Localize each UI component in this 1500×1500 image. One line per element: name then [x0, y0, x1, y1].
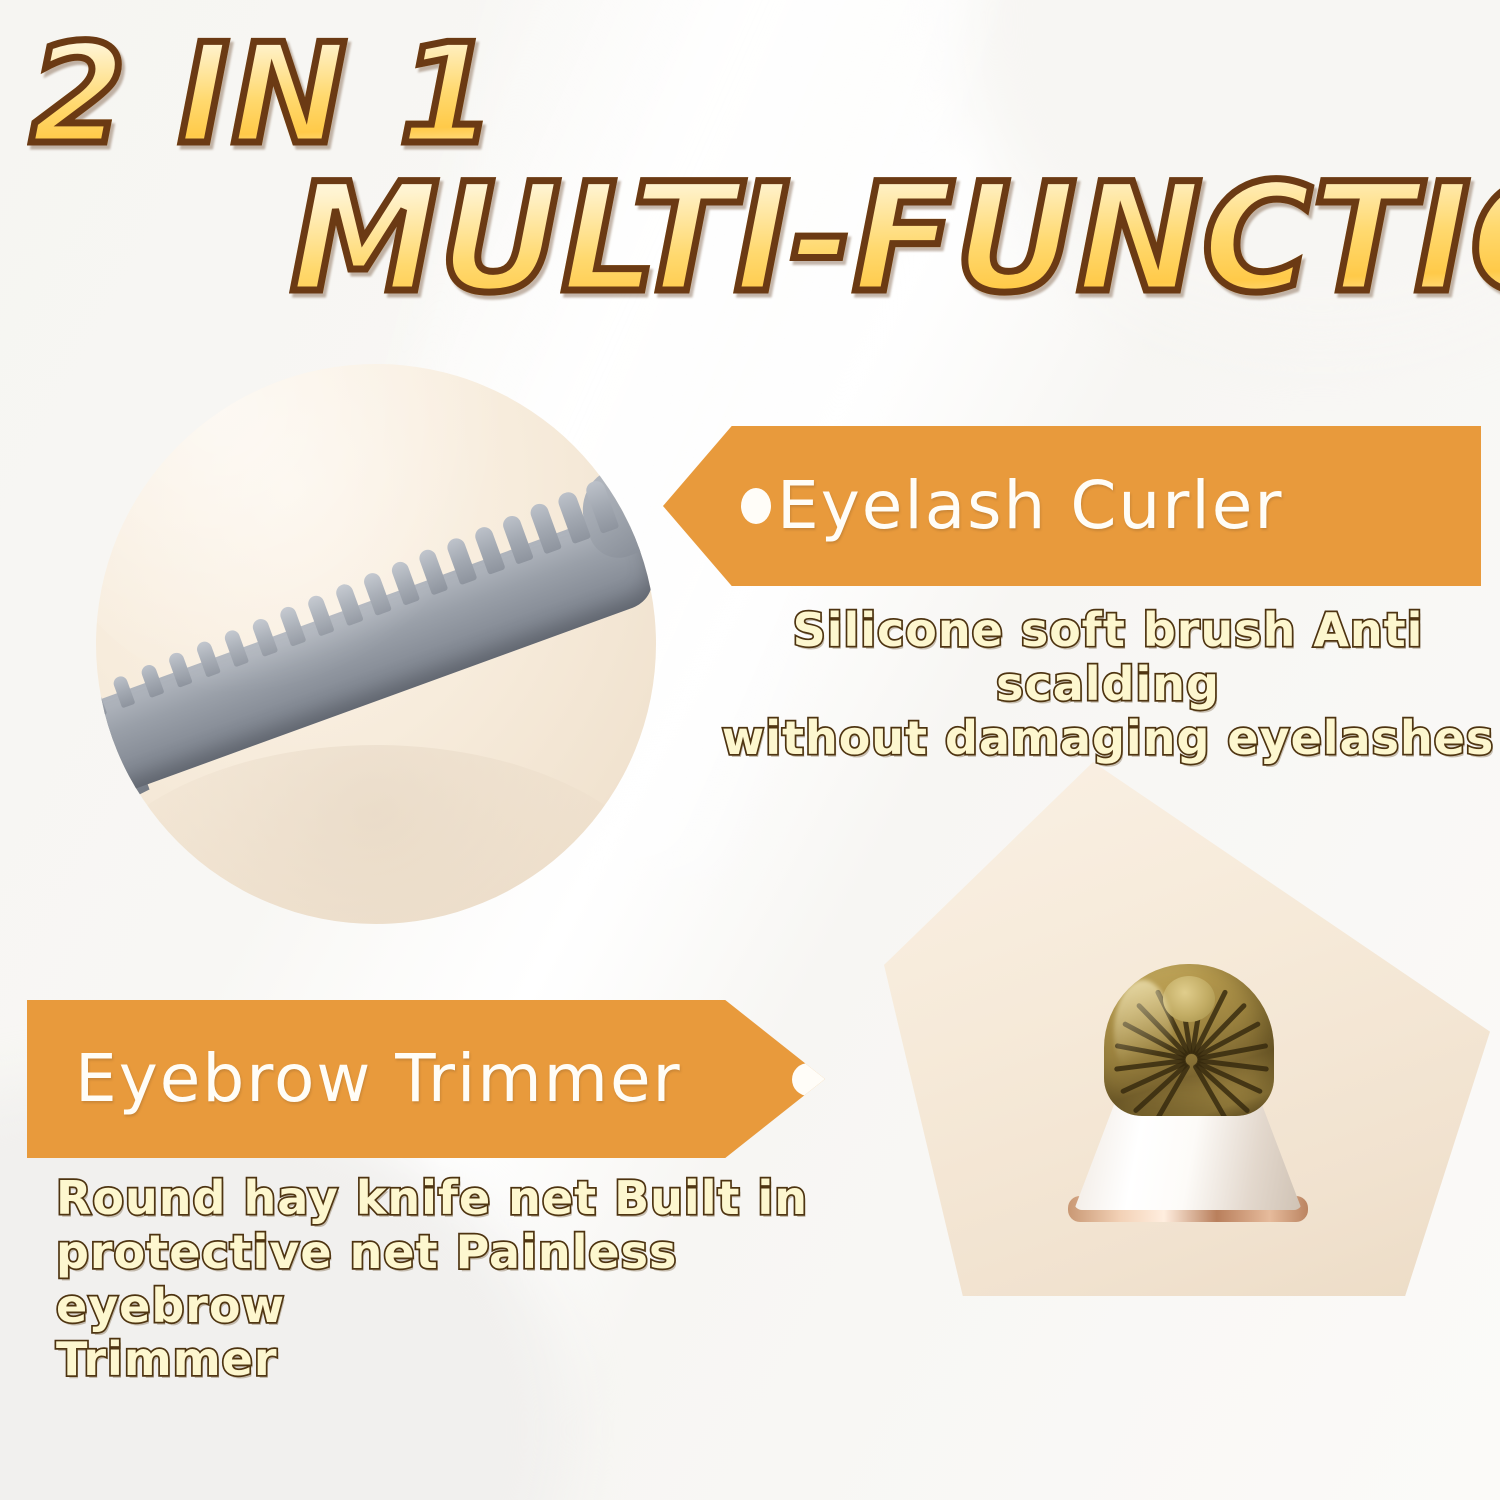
description-line: protective net Painless eyebrow [56, 1226, 846, 1334]
description-eyebrow-trimmer: Round hay knife net Built in protective … [56, 1172, 846, 1387]
banner-label-eyelash-curler: Eyelash Curler [777, 473, 1283, 539]
trimmer-slot [1194, 1062, 1251, 1114]
product-feature-graphic: 2 IN 1 MULTI-FUNCTION Eyelash Curler Sil… [0, 0, 1500, 1500]
bullet-dot-icon [741, 488, 771, 524]
description-line: without damaging eyelashes [718, 712, 1498, 766]
trimmer-illustration [1032, 958, 1352, 1296]
description-eyelash-curler: Silicone soft brush Anti scalding withou… [718, 604, 1498, 765]
trimmer-center-hub [1163, 976, 1215, 1022]
description-line: Round hay knife net Built in [56, 1172, 846, 1226]
banner-eyebrow-trimmer[interactable]: Eyebrow Trimmer [27, 1000, 825, 1158]
brush-tooth [112, 674, 136, 708]
brush-tooth [96, 686, 107, 719]
trimmer-head-gloss [1114, 980, 1172, 1084]
description-line: Silicone soft brush Anti scalding [718, 604, 1498, 712]
brush-tooth [556, 490, 591, 544]
brush-tooth [584, 479, 620, 534]
brush-tooth [528, 502, 562, 555]
eyelash-curler-photo [96, 364, 656, 924]
banner-eyelash-curler[interactable]: Eyelash Curler [663, 426, 1481, 586]
banner-label-eyebrow-trimmer: Eyebrow Trimmer [75, 1046, 682, 1112]
trimmer-gold-head [1104, 964, 1274, 1116]
description-line: Trimmer [56, 1333, 846, 1387]
